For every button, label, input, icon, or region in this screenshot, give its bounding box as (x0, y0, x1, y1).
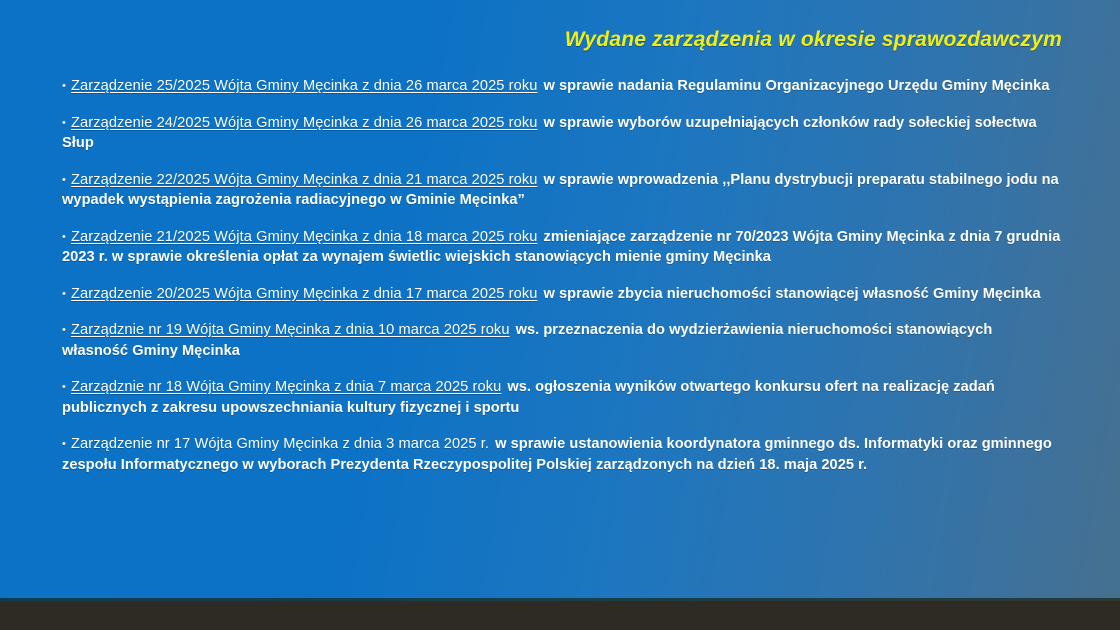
list-item: • Zarządzenie 20/2025 Wójta Gminy Męcink… (62, 284, 1062, 305)
list-item: • Zarządznie nr 18 Wójta Gminy Męcinka z… (62, 377, 1062, 418)
zarzadzenie-link[interactable]: Zarządzenie 24/2025 Wójta Gminy Męcinka … (71, 115, 537, 131)
list-item: • Zarządzenie 25/2025 Wójta Gminy Męcink… (62, 76, 1062, 97)
zarzadzenie-link[interactable]: Zarządznie nr 18 Wójta Gminy Męcinka z d… (71, 379, 501, 395)
bullet-icon: • (62, 174, 67, 186)
zarzadzenie-link[interactable]: Zarządzenie nr 17 Wójta Gminy Męcinka z … (71, 436, 489, 452)
zarzadzenie-link[interactable]: Zarządzenie 22/2025 Wójta Gminy Męcinka … (71, 172, 537, 188)
footer-bar (0, 598, 1120, 630)
presentation-slide: Wydane zarządzenia w okresie sprawozdawc… (0, 0, 1120, 630)
bullet-icon: • (62, 324, 67, 336)
slide-title: Wydane zarządzenia w okresie sprawozdawc… (0, 28, 1062, 52)
zarzadzenie-link[interactable]: Zarządzenie 20/2025 Wójta Gminy Męcinka … (71, 286, 537, 302)
zarzadzenie-description: w sprawie zbycia nieruchomości stanowiąc… (543, 286, 1040, 302)
zarzadzenia-list: • Zarządzenie 25/2025 Wójta Gminy Męcink… (62, 76, 1062, 475)
bullet-icon: • (62, 438, 67, 450)
bullet-icon: • (62, 117, 67, 129)
zarzadzenie-link[interactable]: Zarządzenie 25/2025 Wójta Gminy Męcinka … (71, 78, 537, 94)
footer-bar-edge (0, 598, 1120, 601)
zarzadzenie-link[interactable]: Zarządzenie 21/2025 Wójta Gminy Męcinka … (71, 229, 537, 245)
zarzadzenie-link[interactable]: Zarządznie nr 19 Wójta Gminy Męcinka z d… (71, 322, 510, 338)
list-item: • Zarządzenie 24/2025 Wójta Gminy Męcink… (62, 113, 1062, 154)
bullet-icon: • (62, 288, 67, 300)
list-item: • Zarządzenie 21/2025 Wójta Gminy Męcink… (62, 227, 1062, 268)
zarzadzenie-description: w sprawie nadania Regulaminu Organizacyj… (543, 78, 1049, 94)
bullet-icon: • (62, 80, 67, 92)
list-item: • Zarządznie nr 19 Wójta Gminy Męcinka z… (62, 320, 1062, 361)
list-item: • Zarządzenie nr 17 Wójta Gminy Męcinka … (62, 434, 1062, 475)
bullet-icon: • (62, 231, 67, 243)
list-item: • Zarządzenie 22/2025 Wójta Gminy Męcink… (62, 170, 1062, 211)
bullet-icon: • (62, 381, 67, 393)
